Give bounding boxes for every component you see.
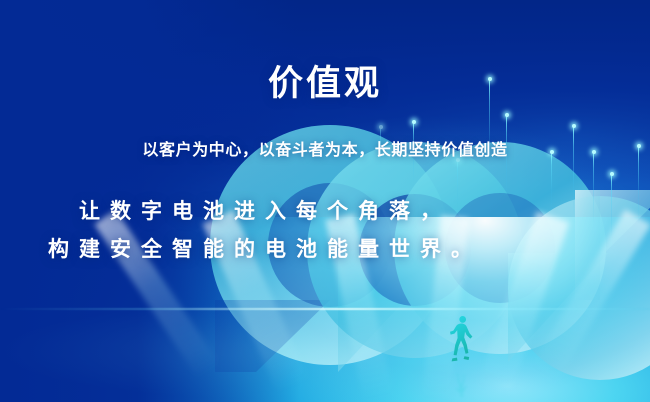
page-title: 价值观 bbox=[0, 64, 650, 105]
banner-subtitle: 以客户为中心，以奋斗者为本，长期坚持价值创造 bbox=[0, 136, 650, 160]
slogan-line-1: 让数字电池进入每个角落， bbox=[0, 192, 520, 230]
banner-content: 价值观 以客户为中心，以奋斗者为本，长期坚持价值创造 让数字电池进入每个角落， … bbox=[0, 0, 650, 402]
slogan-line-2: 构建安全智能的电池能量世界。 bbox=[0, 230, 520, 268]
banner-slogan: 让数字电池进入每个角落， 构建安全智能的电池能量世界。 bbox=[0, 192, 520, 268]
values-banner: 价值观 以客户为中心，以奋斗者为本，长期坚持价值创造 让数字电池进入每个角落， … bbox=[0, 0, 650, 402]
